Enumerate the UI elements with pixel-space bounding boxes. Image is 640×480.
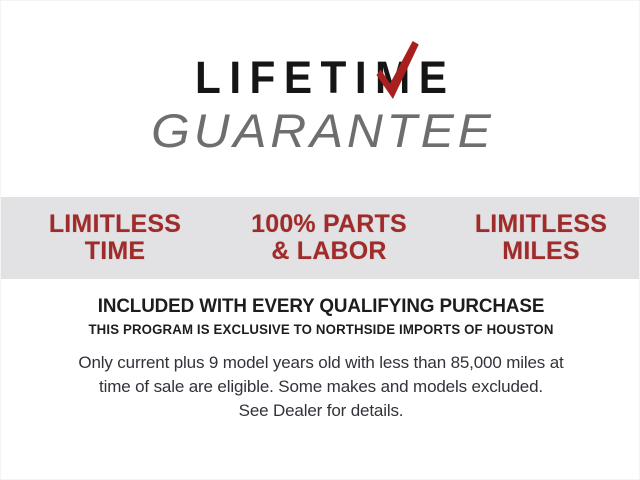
benefit-column-parts-labor: 100% PARTS & LABOR xyxy=(215,211,443,265)
wordmark-lifetime: LIFETIME xyxy=(187,53,456,103)
benefit-line-2: MILES xyxy=(443,238,639,265)
headline-block: INCLUDED WITH EVERY QUALIFYING PURCHASE … xyxy=(1,295,640,339)
fineprint-line-3: See Dealer for details. xyxy=(37,399,605,423)
logo-block: LIFETIME GUARANTEE xyxy=(1,53,640,157)
benefit-column-limitless-time: LIMITLESS TIME xyxy=(15,211,215,265)
benefit-line-2: & LABOR xyxy=(215,238,443,265)
benefit-column-limitless-miles: LIMITLESS MILES xyxy=(443,211,639,265)
benefit-line-1: LIMITLESS xyxy=(443,211,639,238)
fineprint-line-2: time of sale are eligible. Some makes an… xyxy=(37,375,605,399)
headline-main: INCLUDED WITH EVERY QUALIFYING PURCHASE xyxy=(4,295,638,318)
lifetime-guarantee-ad: LIFETIME GUARANTEE LIMITLESS TIME 100% P… xyxy=(0,0,640,480)
benefit-line-2: TIME xyxy=(15,238,215,265)
fineprint-line-1: Only current plus 9 model years old with… xyxy=(37,351,605,375)
fineprint-block: Only current plus 9 model years old with… xyxy=(37,351,605,423)
wordmark-lifetime-text: LIFETIME xyxy=(195,52,455,103)
headline-sub: THIS PROGRAM IS EXCLUSIVE TO NORTHSIDE I… xyxy=(7,321,634,339)
benefit-line-1: LIMITLESS xyxy=(15,211,215,238)
wordmark-guarantee: GUARANTEE xyxy=(0,105,640,157)
benefit-line-1: 100% PARTS xyxy=(215,211,443,238)
benefits-band: LIMITLESS TIME 100% PARTS & LABOR LIMITL… xyxy=(1,197,640,279)
